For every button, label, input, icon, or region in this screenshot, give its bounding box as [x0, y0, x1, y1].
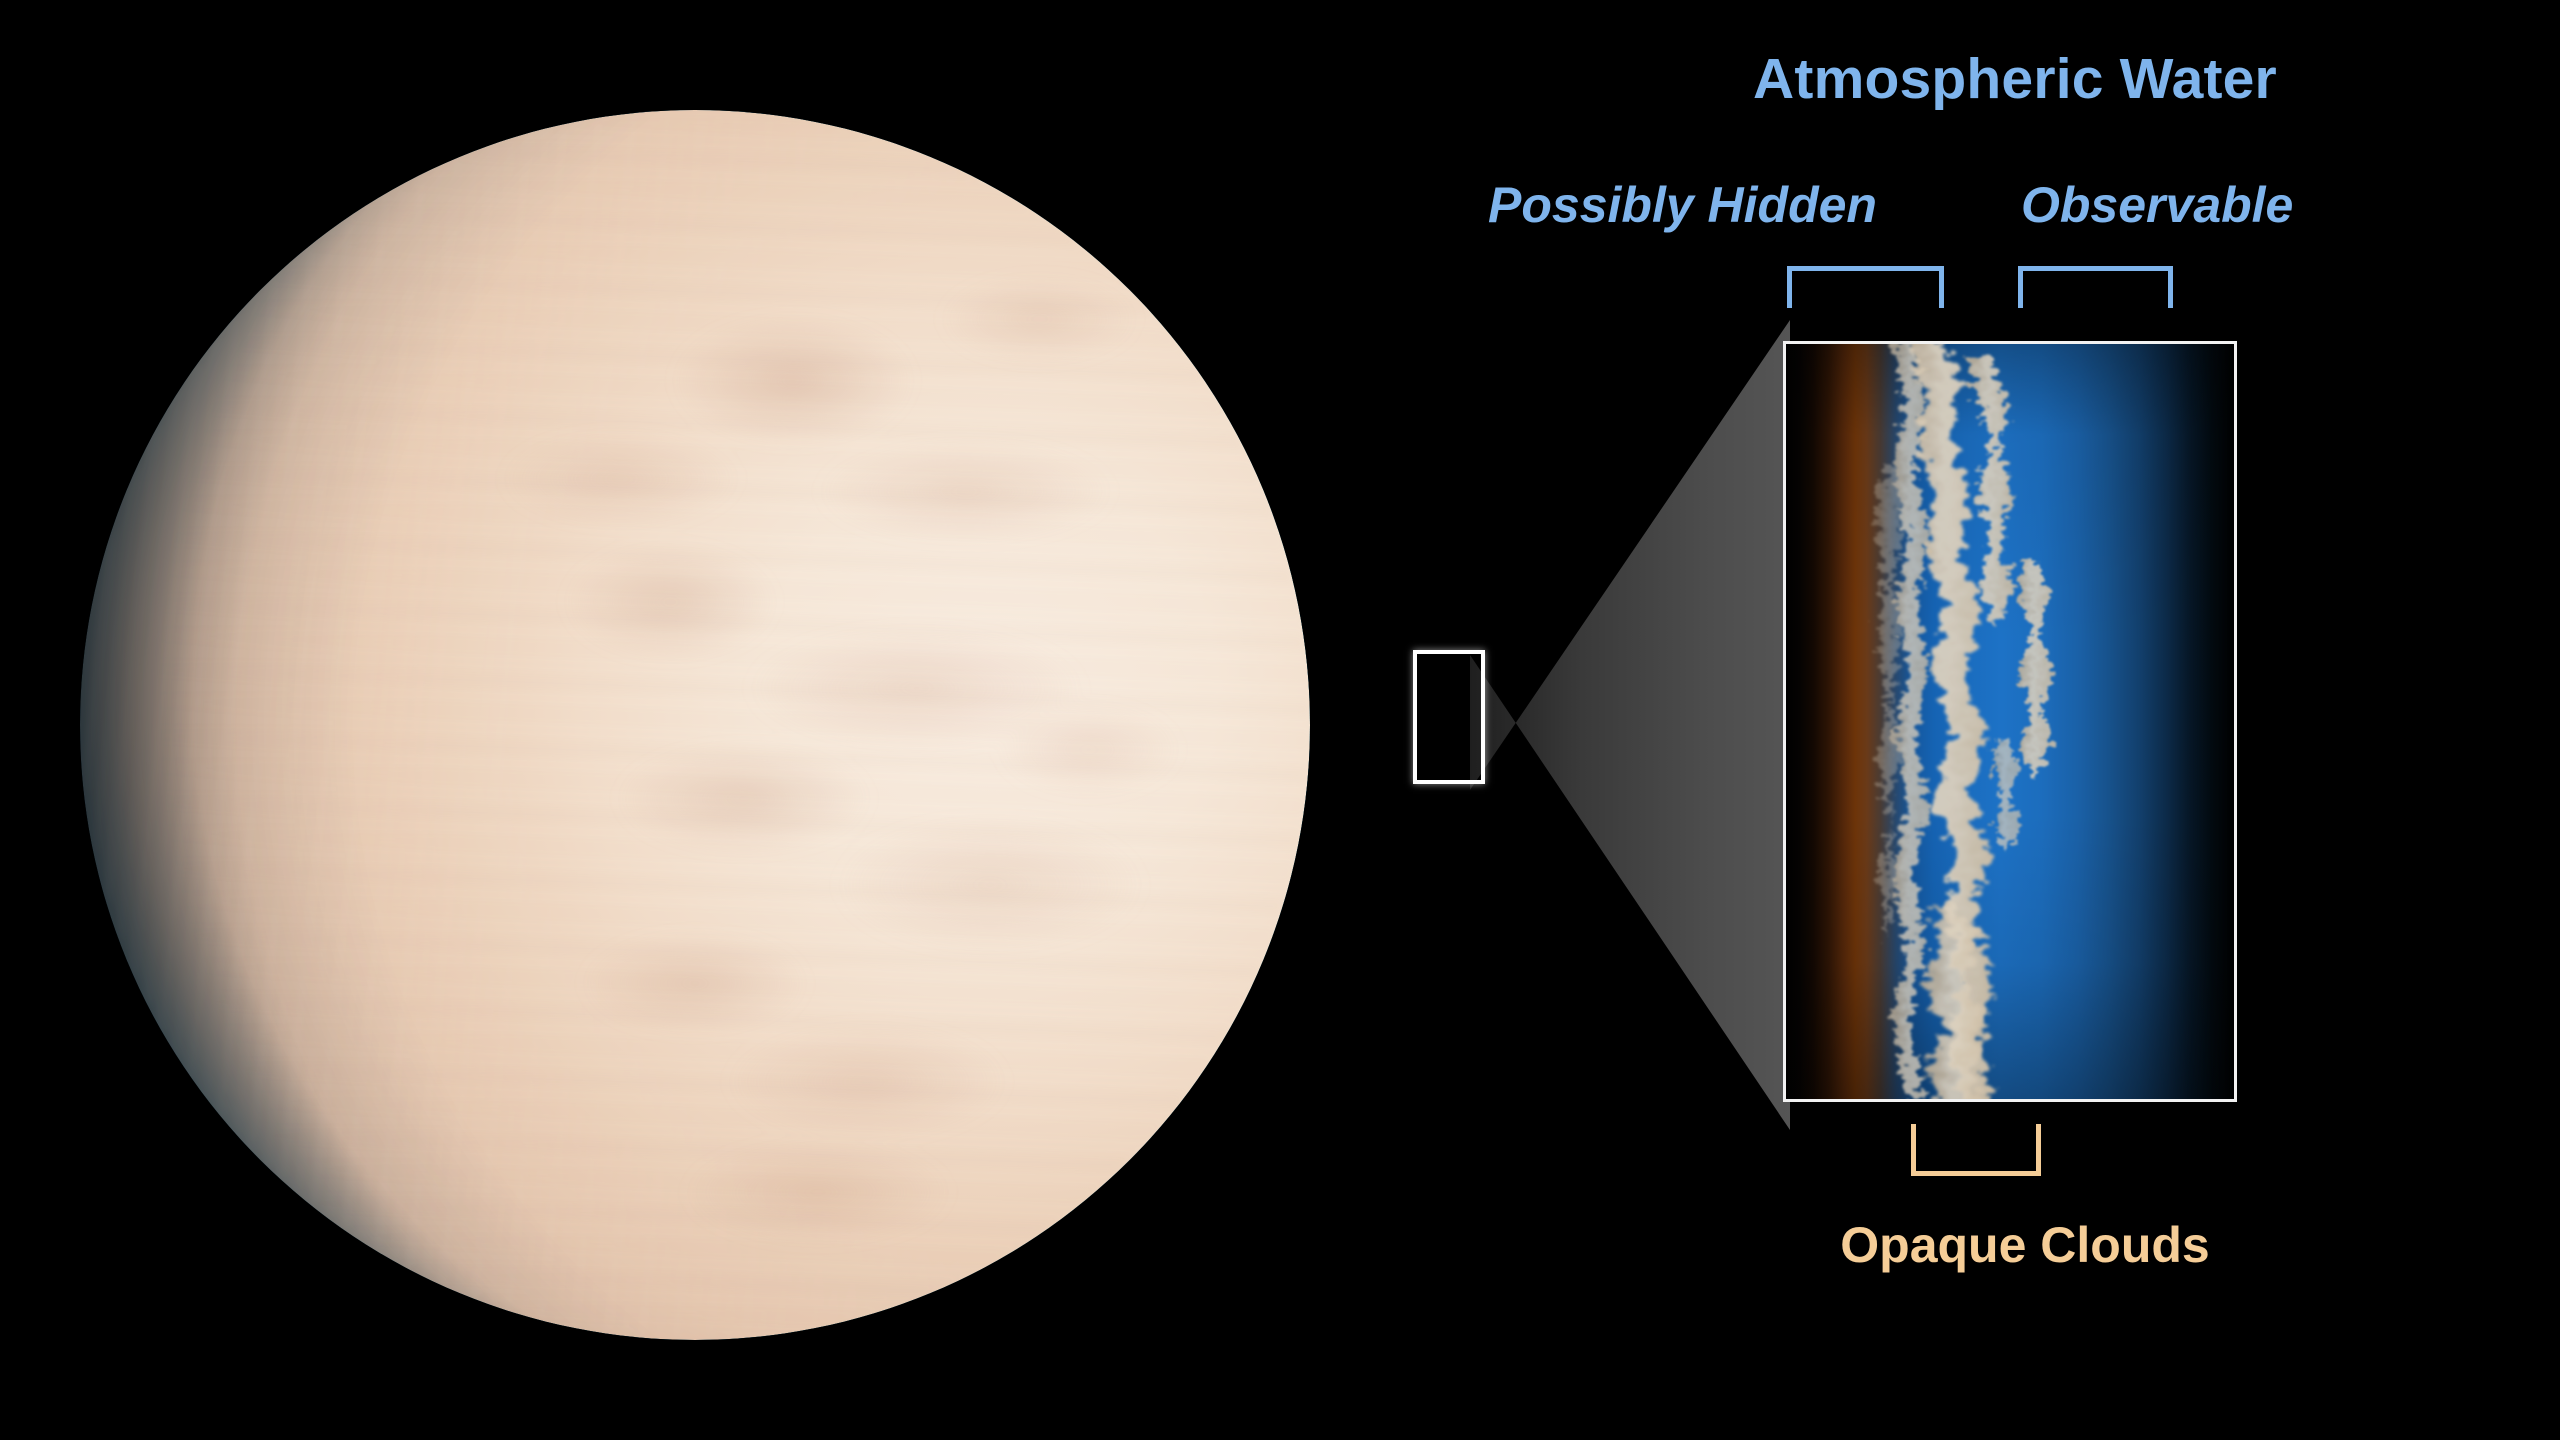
inset-cloud-layer — [1786, 344, 2234, 1099]
planet-inner-limb-glow — [80, 110, 1310, 1340]
bracket-down-icon-possibly-hidden — [1787, 266, 1944, 308]
selection-rectangle-icon[interactable] — [1413, 650, 1485, 784]
atmosphere-limb-closeup[interactable] — [1783, 341, 2237, 1102]
bracket-up-icon-opaque-clouds — [1911, 1124, 2041, 1176]
region-label-observable: Observable — [2021, 176, 2293, 234]
region-label-possibly-hidden: Possibly Hidden — [1488, 176, 1877, 234]
callout-cone-icon — [1470, 320, 1790, 1130]
planet-disc — [80, 110, 1310, 1340]
region-label-opaque-clouds: Opaque Clouds — [1735, 1216, 2315, 1274]
planet-illustration — [0, 0, 1440, 1440]
bracket-down-icon-observable — [2018, 266, 2173, 308]
page-title: Atmospheric Water — [1665, 46, 2365, 112]
infographic-canvas: Atmospheric Water Possibly Hidden Observ… — [0, 0, 2560, 1440]
